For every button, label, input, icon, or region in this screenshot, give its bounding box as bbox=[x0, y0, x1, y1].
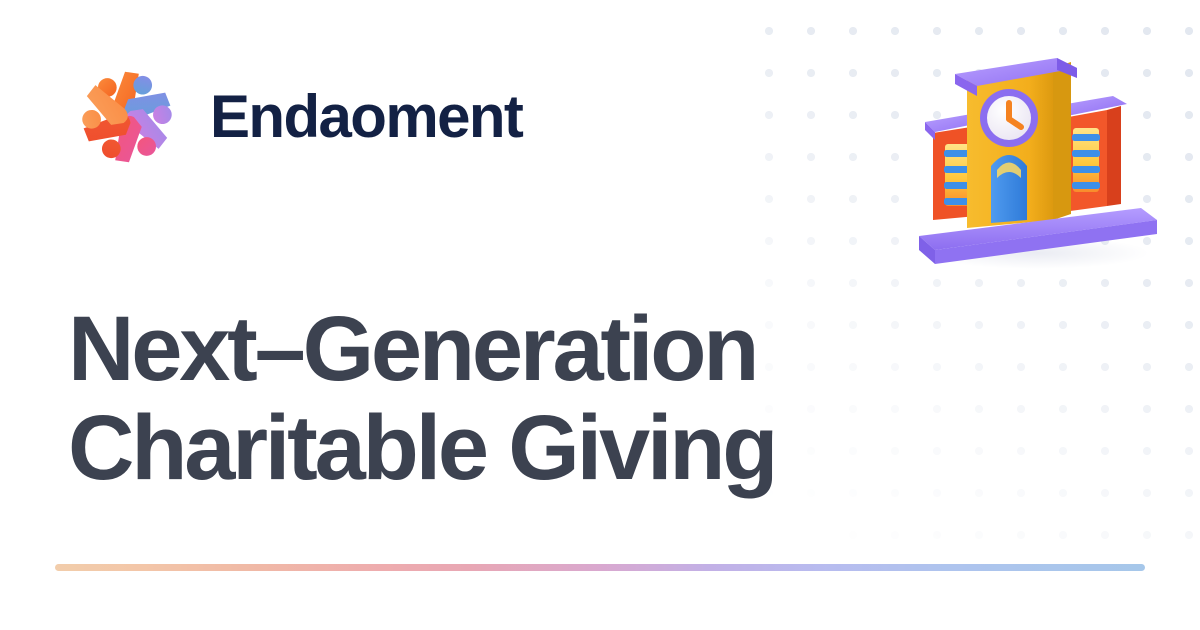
clock-icon bbox=[980, 89, 1038, 147]
brand-wordmark: Endaoment bbox=[210, 87, 522, 147]
social-card: Endaoment bbox=[0, 0, 1200, 630]
town-hall-building-illustration bbox=[905, 48, 1165, 273]
gradient-divider bbox=[55, 564, 1145, 571]
page-title: Next–Generation Charitable Giving bbox=[68, 300, 968, 499]
brand-lockup: Endaoment bbox=[68, 58, 522, 176]
headline-line-2: Charitable Giving bbox=[68, 399, 968, 498]
headline-line-1: Next–Generation bbox=[68, 300, 968, 399]
building-clock-tower bbox=[955, 58, 1077, 228]
building-door bbox=[991, 155, 1027, 223]
endaoment-logo-icon bbox=[68, 58, 186, 176]
